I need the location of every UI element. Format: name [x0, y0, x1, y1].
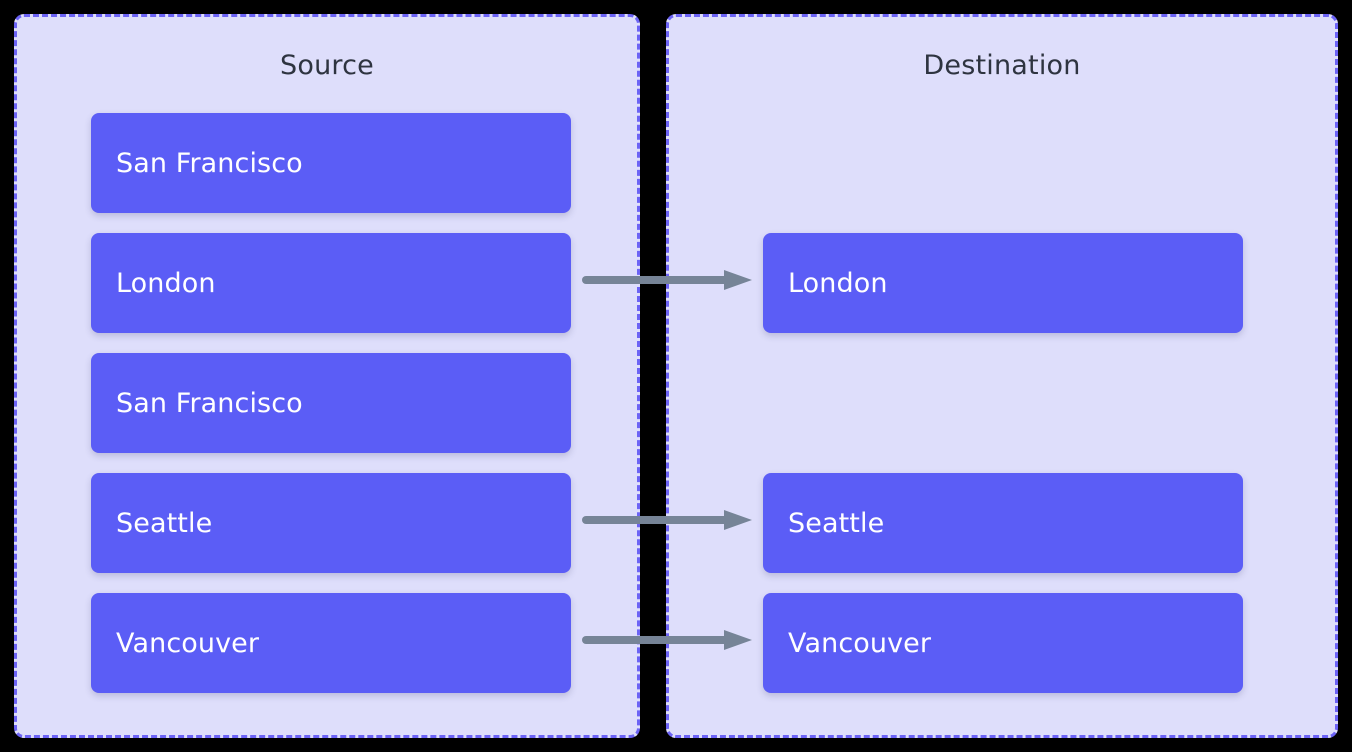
source-item-4-label: Vancouver	[91, 630, 259, 657]
source-item-1-label: London	[91, 270, 216, 297]
source-item-4[interactable]: Vancouver	[91, 593, 571, 693]
destination-item-0[interactable]: London	[763, 233, 1243, 333]
source-item-3-label: Seattle	[91, 510, 212, 537]
destination-item-1-label: Seattle	[763, 510, 884, 537]
source-item-3[interactable]: Seattle	[91, 473, 571, 573]
source-panel: Source San Francisco London San Francisc…	[14, 14, 640, 738]
source-item-2[interactable]: San Francisco	[91, 353, 571, 453]
source-panel-title: Source	[17, 52, 637, 79]
destination-panel-title: Destination	[669, 52, 1335, 79]
destination-item-2[interactable]: Vancouver	[763, 593, 1243, 693]
source-item-1[interactable]: London	[91, 233, 571, 333]
destination-item-2-label: Vancouver	[763, 630, 931, 657]
destination-panel: Destination London Seattle Vancouver	[666, 14, 1338, 738]
diagram-canvas: Source San Francisco London San Francisc…	[0, 0, 1352, 752]
source-item-0-label: San Francisco	[91, 150, 303, 177]
source-item-0[interactable]: San Francisco	[91, 113, 571, 213]
source-item-2-label: San Francisco	[91, 390, 303, 417]
destination-item-0-label: London	[763, 270, 888, 297]
destination-item-1[interactable]: Seattle	[763, 473, 1243, 573]
